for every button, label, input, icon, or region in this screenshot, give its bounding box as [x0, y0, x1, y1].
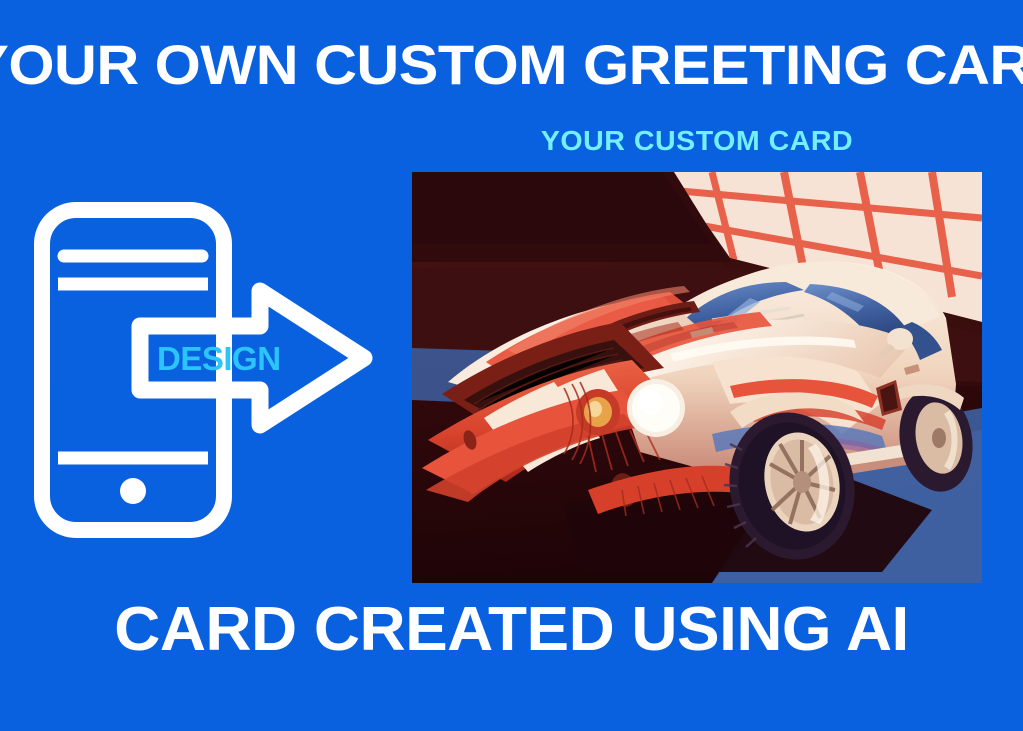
- custom-card-artwork[interactable]: [412, 172, 982, 583]
- design-arrow-icon: [126, 282, 378, 434]
- poster-canvas: YOUR OWN CUSTOM GREETING CARD YOUR CUSTO…: [0, 0, 1023, 731]
- page-title-bottom: CARD CREATED USING AI: [0, 598, 1023, 662]
- card-subtitle: YOUR CUSTOM CARD: [406, 126, 987, 156]
- page-title-top: YOUR OWN CUSTOM GREETING CARD: [0, 36, 1023, 94]
